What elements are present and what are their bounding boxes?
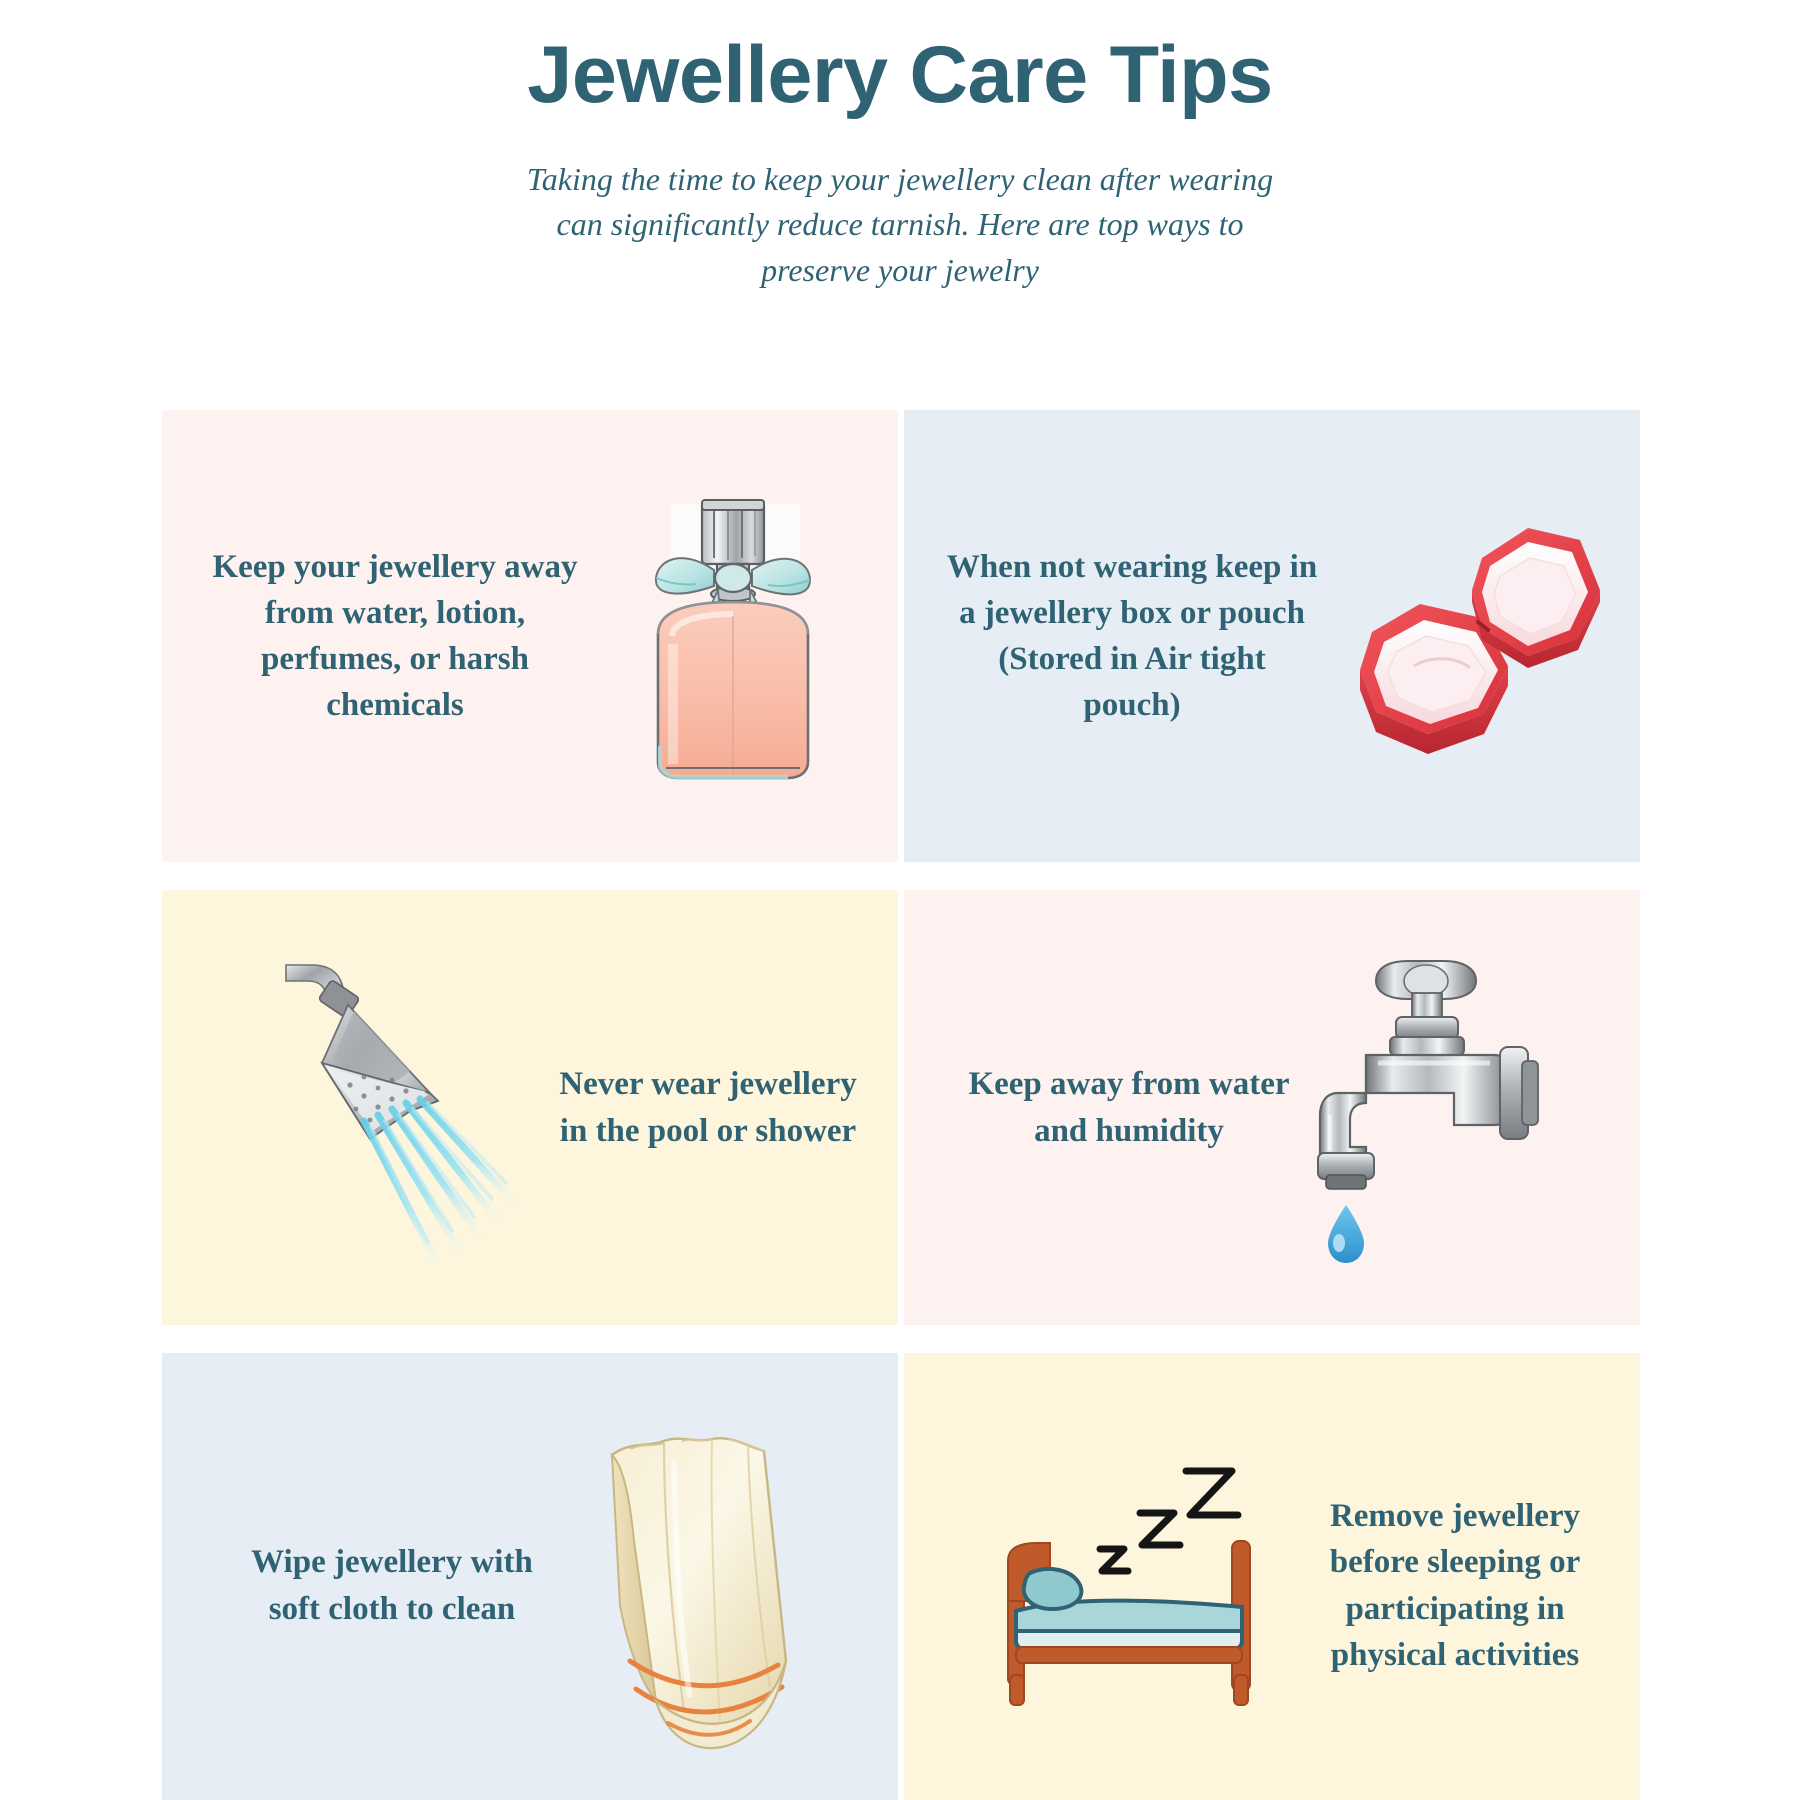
- page-title: Jewellery Care Tips: [0, 30, 1800, 121]
- header: Jewellery Care Tips Taking the time to k…: [0, 0, 1800, 293]
- tip-card-remove-before-sleep: Remove jewellery before sleeping or part…: [904, 1353, 1640, 1800]
- tip-card-text: Keep your jewellery away from water, lot…: [180, 544, 610, 729]
- jewellery-box-icon: [1332, 506, 1612, 766]
- water-tap-icon: [1304, 943, 1574, 1273]
- tip-card-text: When not wearing keep in a jewellery box…: [932, 544, 1332, 729]
- infographic-page: Jewellery Care Tips Taking the time to k…: [0, 0, 1800, 1800]
- tip-card-avoid-chemicals: Keep your jewellery away from water, lot…: [162, 410, 898, 862]
- tip-card-wipe-with-cloth: Wipe jewellery with soft cloth to clean: [162, 1353, 898, 1800]
- tip-card-avoid-humidity: Keep away from water and humidity: [904, 890, 1640, 1325]
- bed-sleeping-icon: [990, 1461, 1290, 1711]
- tip-card-text: Never wear jewellery in the pool or show…: [528, 1061, 888, 1153]
- shower-head-icon: [278, 943, 528, 1273]
- tip-card-store-in-box: When not wearing keep in a jewellery box…: [904, 410, 1640, 862]
- tips-grid: Keep your jewellery away from water, lot…: [162, 410, 1639, 1790]
- tip-card-text: Remove jewellery before sleeping or part…: [1290, 1493, 1620, 1678]
- polishing-cloth-icon: [572, 1421, 832, 1751]
- tip-card-no-pool-shower: Never wear jewellery in the pool or show…: [162, 890, 898, 1325]
- perfume-bottle-icon: [610, 486, 860, 786]
- tip-card-text: Wipe jewellery with soft cloth to clean: [212, 1539, 572, 1631]
- page-subtitle: Taking the time to keep your jewellery c…: [505, 157, 1295, 293]
- tip-card-text: Keep away from water and humidity: [954, 1061, 1304, 1153]
